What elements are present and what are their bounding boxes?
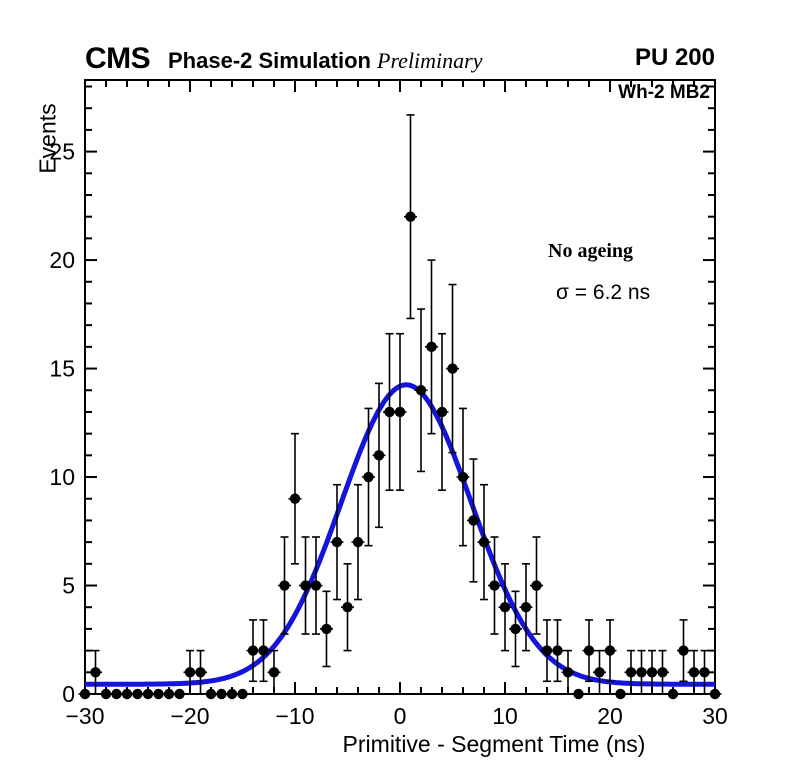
svg-text:20: 20: [49, 247, 75, 273]
data-point: [614, 689, 627, 699]
data-point: [551, 645, 564, 655]
data-point: [698, 667, 711, 677]
svg-text:10: 10: [49, 464, 75, 490]
data-point: [79, 689, 92, 699]
plot-canvas: CMS Phase-2 Simulation Preliminary PU 20…: [0, 0, 796, 772]
svg-text:30: 30: [702, 703, 728, 729]
data-point: [425, 342, 438, 352]
data-point: [509, 624, 522, 634]
data-point: [173, 689, 186, 699]
data-point: [331, 537, 344, 547]
data-point: [656, 667, 669, 677]
data-point: [530, 580, 543, 590]
data-point: [572, 689, 585, 699]
data-point: [446, 363, 459, 373]
data-point: [278, 580, 291, 590]
svg-text:5: 5: [62, 573, 75, 599]
svg-text:10: 10: [492, 703, 518, 729]
data-point: [89, 667, 102, 677]
data-point: [583, 645, 596, 655]
data-point: [677, 645, 690, 655]
data-point: [394, 407, 407, 417]
data-point: [352, 537, 365, 547]
data-point: [593, 667, 606, 677]
data-point: [709, 689, 722, 699]
axis-tick-labels: −30−20−1001020300510152025: [49, 139, 727, 729]
data-point: [604, 645, 617, 655]
data-point: [320, 624, 333, 634]
data-point: [194, 667, 207, 677]
data-point: [373, 450, 386, 460]
svg-text:0: 0: [394, 703, 407, 729]
svg-text:20: 20: [597, 703, 623, 729]
error-bars: [92, 115, 709, 694]
data-point: [667, 689, 680, 699]
svg-text:0: 0: [62, 681, 75, 707]
data-point: [520, 602, 533, 612]
svg-text:−20: −20: [170, 703, 209, 729]
data-point: [236, 689, 249, 699]
data-point: [268, 667, 281, 677]
plot-svg: −30−20−1001020300510152025: [0, 0, 796, 772]
svg-text:−10: −10: [275, 703, 314, 729]
data-point: [404, 211, 417, 221]
svg-text:15: 15: [49, 356, 75, 382]
data-point: [362, 472, 375, 482]
svg-text:25: 25: [49, 139, 75, 165]
data-point: [341, 602, 354, 612]
data-point: [289, 494, 302, 504]
